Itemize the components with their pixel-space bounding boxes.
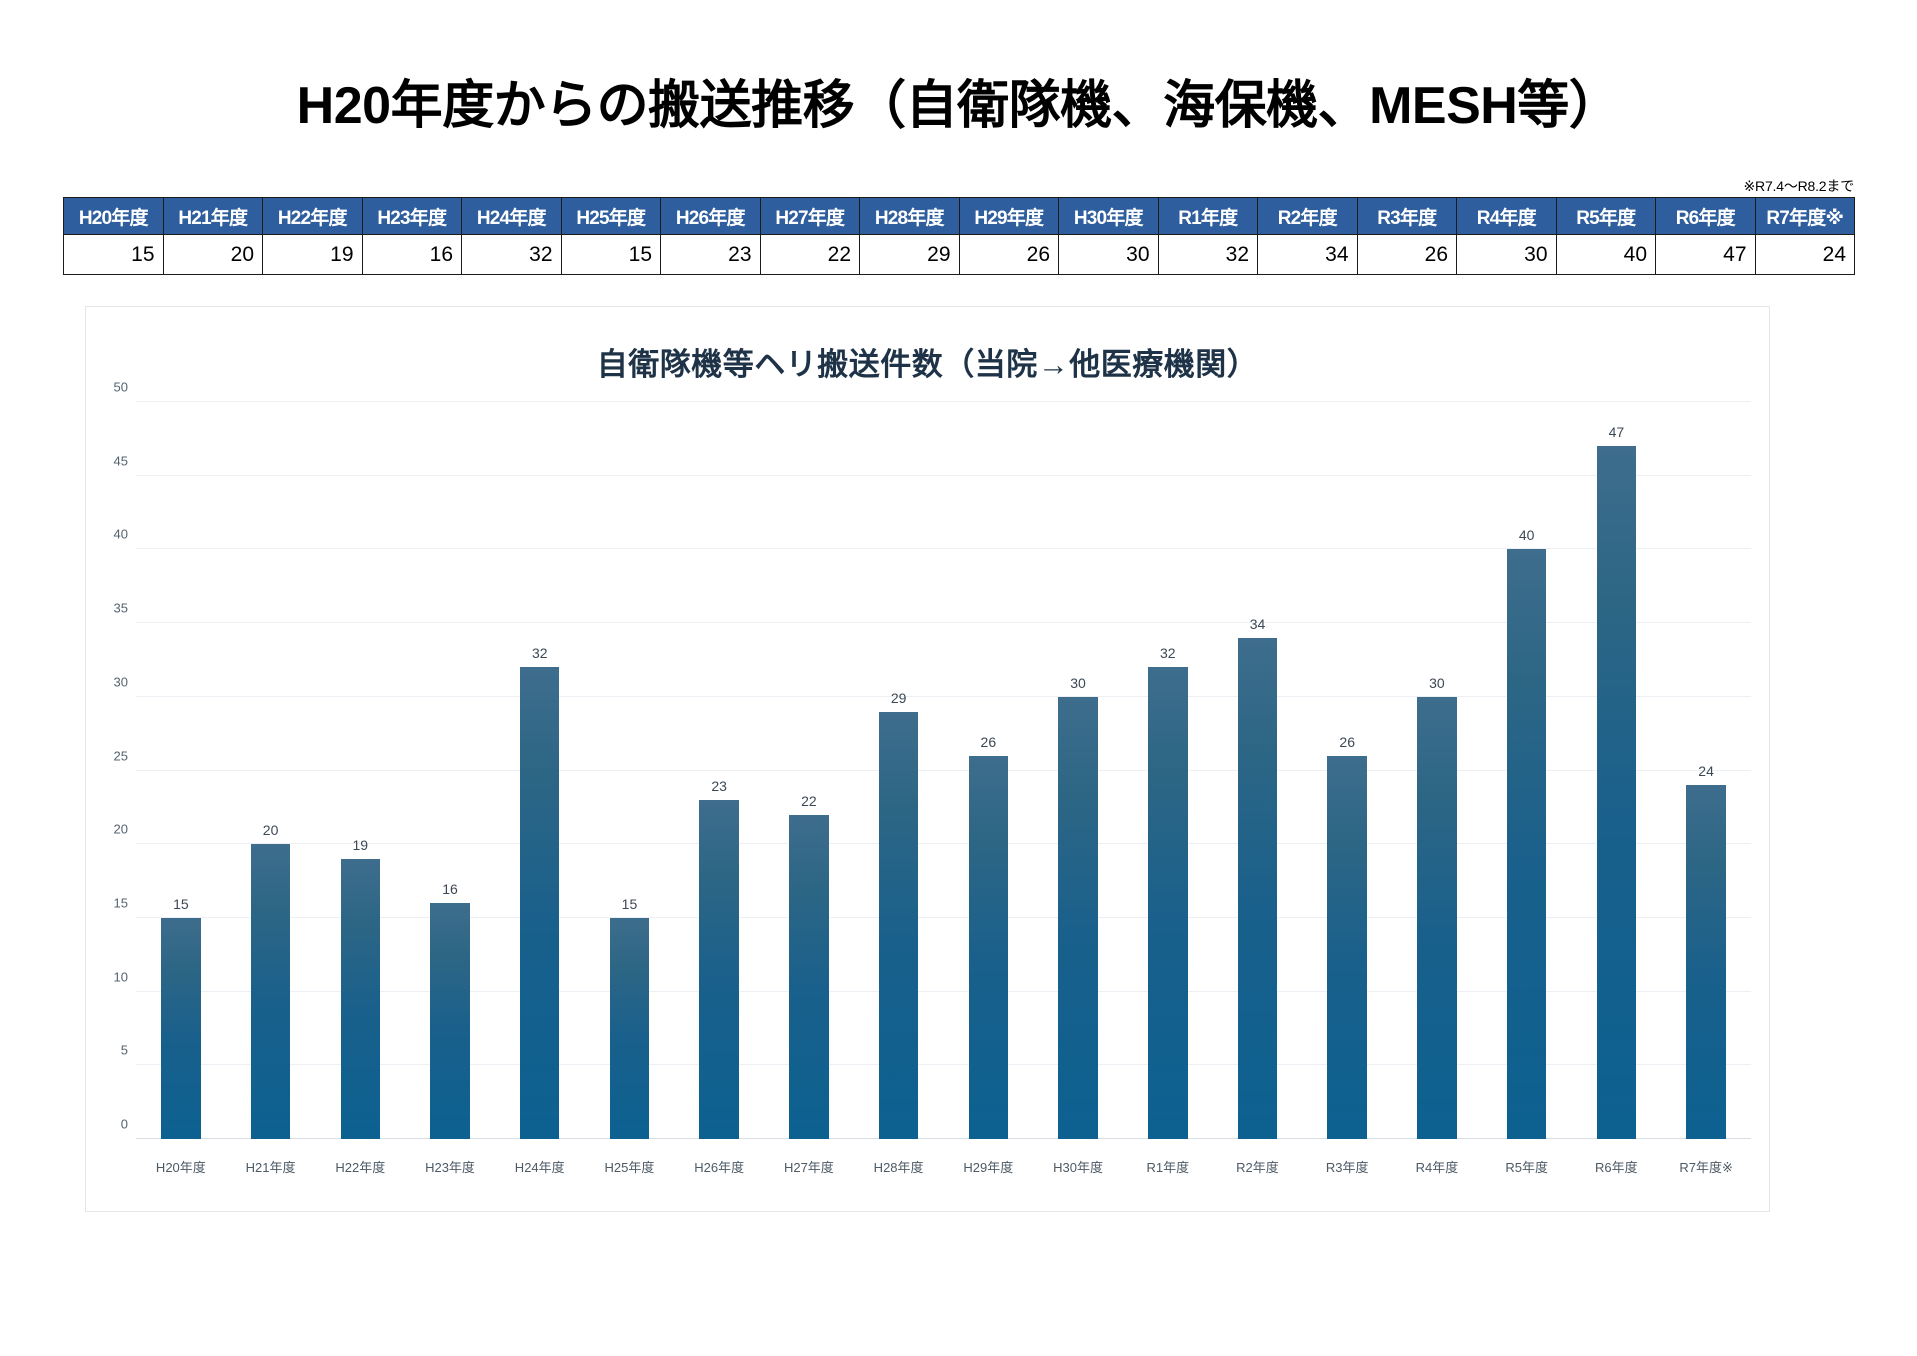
table-header-cell: H29年度 xyxy=(959,198,1059,235)
x-axis-tick-label: H22年度 xyxy=(335,1157,385,1176)
bar-value-label: 24 xyxy=(1698,763,1714,779)
bar-value-label: 26 xyxy=(981,734,997,750)
y-axis-tick-label: 20 xyxy=(114,822,128,837)
x-axis-tick-label: H23年度 xyxy=(425,1157,475,1176)
bar-value-label: 30 xyxy=(1070,675,1086,691)
x-axis-tick-label: R4年度 xyxy=(1416,1157,1459,1176)
bar[interactable]: 15 xyxy=(161,918,200,1139)
table-header-cell: H24年度 xyxy=(462,198,562,235)
bar-slot: 24R7年度※ xyxy=(1661,402,1751,1139)
bar-slot: 20H21年度 xyxy=(226,402,316,1139)
bar-value-label: 19 xyxy=(353,837,369,853)
table-value-cell: 30 xyxy=(1059,235,1159,275)
bar[interactable]: 29 xyxy=(879,712,918,1139)
y-axis-tick-label: 0 xyxy=(121,1117,128,1132)
table-value-cell: 47 xyxy=(1656,235,1756,275)
y-axis-tick-label: 10 xyxy=(114,969,128,984)
x-axis-tick-label: H29年度 xyxy=(963,1157,1013,1176)
bar-value-label: 15 xyxy=(173,896,189,912)
table-header-cell: R5年度 xyxy=(1556,198,1656,235)
bar-slot: 34R2年度 xyxy=(1213,402,1303,1139)
bar-value-label: 26 xyxy=(1339,734,1355,750)
bar-slot: 26H29年度 xyxy=(943,402,1033,1139)
bar-slot: 19H22年度 xyxy=(315,402,405,1139)
table-header-cell: H20年度 xyxy=(64,198,164,235)
table-value-cell: 15 xyxy=(561,235,661,275)
x-axis-tick-label: H30年度 xyxy=(1053,1157,1103,1176)
bar[interactable]: 26 xyxy=(969,756,1008,1139)
bar-value-label: 30 xyxy=(1429,675,1445,691)
bar[interactable]: 47 xyxy=(1597,446,1636,1139)
x-axis-tick-label: H26年度 xyxy=(694,1157,744,1176)
y-axis-tick-label: 25 xyxy=(114,748,128,763)
bar-value-label: 22 xyxy=(801,793,817,809)
table-header-cell: R1年度 xyxy=(1158,198,1258,235)
bar[interactable]: 30 xyxy=(1417,697,1456,1139)
table-header-cell: R3年度 xyxy=(1357,198,1457,235)
table-header-cell: R2年度 xyxy=(1258,198,1358,235)
table-value-cell: 32 xyxy=(1158,235,1258,275)
table-value-cell: 24 xyxy=(1755,235,1855,275)
x-axis-tick-label: H24年度 xyxy=(515,1157,565,1176)
bar[interactable]: 23 xyxy=(699,800,738,1139)
table-value-cell: 16 xyxy=(362,235,462,275)
table-header-cell: H22年度 xyxy=(263,198,363,235)
x-axis-tick-label: H25年度 xyxy=(605,1157,655,1176)
bar-slot: 30H30年度 xyxy=(1033,402,1123,1139)
bar[interactable]: 20 xyxy=(251,844,290,1139)
bar[interactable]: 15 xyxy=(610,918,649,1139)
bar-slot: 15H25年度 xyxy=(585,402,675,1139)
table-header-cell: H25年度 xyxy=(561,198,661,235)
y-axis-tick-label: 30 xyxy=(114,674,128,689)
bar-slot: 22H27年度 xyxy=(764,402,854,1139)
table-value-cell: 30 xyxy=(1457,235,1557,275)
bar-slot: 32R1年度 xyxy=(1123,402,1213,1139)
x-axis-tick-label: H27年度 xyxy=(784,1157,834,1176)
bar[interactable]: 30 xyxy=(1058,697,1097,1139)
x-axis-tick-label: H21年度 xyxy=(246,1157,296,1176)
table-value-row: 152019163215232229263032342630404724 xyxy=(64,235,1855,275)
y-axis-tick-label: 45 xyxy=(114,453,128,468)
table-header-cell: H23年度 xyxy=(362,198,462,235)
table-value-cell: 19 xyxy=(263,235,363,275)
y-axis-tick-label: 35 xyxy=(114,601,128,616)
table-value-cell: 32 xyxy=(462,235,562,275)
y-axis-tick-label: 5 xyxy=(121,1043,128,1058)
bar-value-label: 16 xyxy=(442,881,458,897)
table-note: ※R7.4〜R8.2まで xyxy=(1744,176,1854,196)
bar-value-label: 47 xyxy=(1609,424,1625,440)
y-axis-tick-label: 50 xyxy=(114,380,128,395)
table-header-cell: H21年度 xyxy=(163,198,263,235)
bar[interactable]: 24 xyxy=(1686,785,1725,1139)
bar[interactable]: 34 xyxy=(1238,638,1277,1139)
bar-slot: 29H28年度 xyxy=(854,402,944,1139)
table-value-cell: 22 xyxy=(760,235,860,275)
bar-slot: 32H24年度 xyxy=(495,402,585,1139)
table-header-cell: H27年度 xyxy=(760,198,860,235)
bar-slot: 15H20年度 xyxy=(136,402,226,1139)
table-value-cell: 20 xyxy=(163,235,263,275)
bar[interactable]: 22 xyxy=(789,815,828,1139)
y-axis-tick-label: 40 xyxy=(114,527,128,542)
bar-slot: 23H26年度 xyxy=(674,402,764,1139)
y-axis-tick-label: 15 xyxy=(114,895,128,910)
x-axis-tick-label: H28年度 xyxy=(874,1157,924,1176)
x-axis-tick-label: R7年度※ xyxy=(1679,1157,1733,1176)
chart-panel: 自衛隊機等ヘリ搬送件数（当院→他医療機関） 051015202530354045… xyxy=(85,306,1770,1212)
bar-value-label: 32 xyxy=(532,645,548,661)
bar-value-label: 29 xyxy=(891,690,907,706)
table-value-cell: 15 xyxy=(64,235,164,275)
x-axis-tick-label: R2年度 xyxy=(1236,1157,1279,1176)
plot-area: 05101520253035404550 15H20年度20H21年度19H22… xyxy=(136,402,1751,1139)
table-value-cell: 26 xyxy=(1357,235,1457,275)
bar-series: 15H20年度20H21年度19H22年度16H23年度32H24年度15H25… xyxy=(136,402,1751,1139)
bar-value-label: 32 xyxy=(1160,645,1176,661)
bar-value-label: 34 xyxy=(1250,616,1266,632)
table-value-cell: 34 xyxy=(1258,235,1358,275)
table-header-cell: R6年度 xyxy=(1656,198,1756,235)
bar-slot: 47R6年度 xyxy=(1572,402,1662,1139)
table-value-cell: 26 xyxy=(959,235,1059,275)
bar-slot: 26R3年度 xyxy=(1302,402,1392,1139)
bar[interactable]: 16 xyxy=(430,903,469,1139)
bar-value-label: 23 xyxy=(711,778,727,794)
table-value-cell: 40 xyxy=(1556,235,1656,275)
bar-value-label: 20 xyxy=(263,822,279,838)
x-axis-tick-label: R6年度 xyxy=(1595,1157,1638,1176)
bar-slot: 40R5年度 xyxy=(1482,402,1572,1139)
x-axis-tick-label: H20年度 xyxy=(156,1157,206,1176)
chart-title: 自衛隊機等ヘリ搬送件数（当院→他医療機関） xyxy=(86,339,1769,384)
table-header-cell: H30年度 xyxy=(1059,198,1159,235)
table-header-row: H20年度H21年度H22年度H23年度H24年度H25年度H26年度H27年度… xyxy=(64,198,1855,235)
bar[interactable]: 26 xyxy=(1327,756,1366,1139)
page-title: H20年度からの搬送推移（自衛隊機、海保機、MESH等） xyxy=(0,78,1917,135)
bar[interactable]: 32 xyxy=(1148,667,1187,1139)
x-axis-tick-label: R3年度 xyxy=(1326,1157,1369,1176)
summary-table: H20年度H21年度H22年度H23年度H24年度H25年度H26年度H27年度… xyxy=(63,197,1855,275)
bar[interactable]: 40 xyxy=(1507,549,1546,1139)
table-header-cell: H28年度 xyxy=(860,198,960,235)
bar-slot: 30R4年度 xyxy=(1392,402,1482,1139)
bar-value-label: 15 xyxy=(622,896,638,912)
bar[interactable]: 19 xyxy=(341,859,380,1139)
table-header-cell: R4年度 xyxy=(1457,198,1557,235)
slide-page: H20年度からの搬送推移（自衛隊機、海保機、MESH等） ※R7.4〜R8.2ま… xyxy=(0,0,1917,1356)
table-value-cell: 29 xyxy=(860,235,960,275)
bar-value-label: 40 xyxy=(1519,527,1535,543)
x-axis-tick-label: R1年度 xyxy=(1146,1157,1189,1176)
table-header-cell: R7年度※ xyxy=(1755,198,1855,235)
x-axis-tick-label: R5年度 xyxy=(1505,1157,1548,1176)
table-header-cell: H26年度 xyxy=(661,198,761,235)
bar-slot: 16H23年度 xyxy=(405,402,495,1139)
table-value-cell: 23 xyxy=(661,235,761,275)
bar[interactable]: 32 xyxy=(520,667,559,1139)
